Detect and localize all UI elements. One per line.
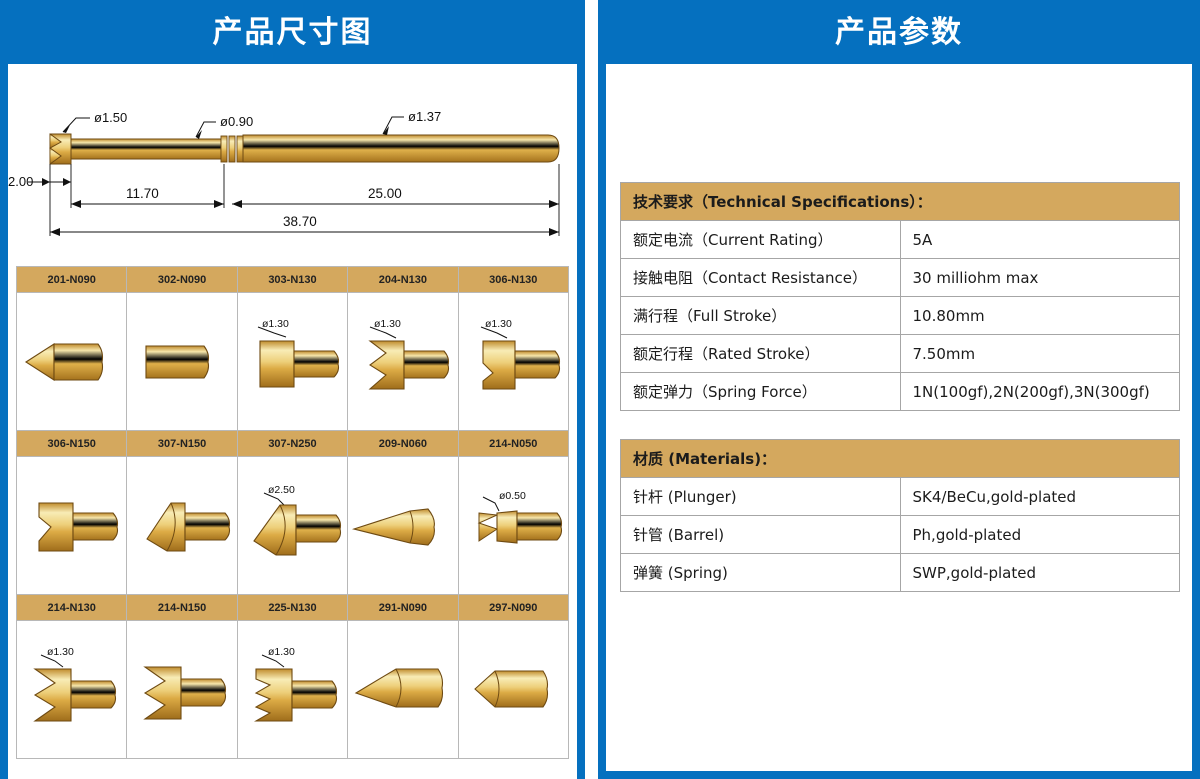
tip-model-label: 307-N150 bbox=[127, 431, 237, 457]
material-key: 针杆 (Plunger) bbox=[621, 478, 901, 516]
tip-model-label: 306-N150 bbox=[17, 431, 127, 457]
table-row: 针杆 (Plunger) SK4/BeCu,gold-plated bbox=[621, 478, 1180, 516]
tip-callout: ø1.30 bbox=[485, 318, 512, 330]
spec-value: 7.50mm bbox=[900, 335, 1180, 373]
table-row: 额定行程（Rated Stroke） 7.50mm bbox=[621, 335, 1180, 373]
tip-model-label: 225-N130 bbox=[237, 595, 347, 621]
tip-model-label: 302-N090 bbox=[127, 267, 237, 293]
dimension-label-11-70: 11.70 bbox=[126, 186, 159, 201]
material-value: SWP,gold-plated bbox=[900, 554, 1180, 592]
table-row: ø1.30 ø1.30 bbox=[17, 621, 569, 759]
tip-model-label: 303-N130 bbox=[237, 267, 347, 293]
tip-callout: ø2.50 bbox=[268, 484, 295, 496]
tech-spec-header: 技术要求（Technical Specifications）： bbox=[621, 183, 1180, 221]
table-row: ø1.30 ø1.30 bbox=[17, 293, 569, 431]
materials-header: 材质 (Materials)： bbox=[621, 440, 1180, 478]
tip-model-label: 306-N130 bbox=[458, 267, 568, 293]
table-row: 额定电流（Current Rating） 5A bbox=[621, 221, 1180, 259]
table-row: 214-N130 214-N150 225-N130 291-N090 297-… bbox=[17, 595, 569, 621]
page-title-dimensions: 产品尺寸图 bbox=[213, 7, 373, 51]
header-banner-dimensions: 产品尺寸图 bbox=[0, 0, 585, 58]
spec-key: 接触电阻（Contact Resistance） bbox=[621, 259, 901, 297]
tip-shape-297-N090 bbox=[458, 621, 568, 759]
tip-shape-214-N050: ø0.50 bbox=[458, 457, 568, 595]
material-value: Ph,gold-plated bbox=[900, 516, 1180, 554]
tip-model-label: 214-N130 bbox=[17, 595, 127, 621]
materials-table: 材质 (Materials)： 针杆 (Plunger) SK4/BeCu,go… bbox=[620, 439, 1180, 592]
spec-key: 满行程（Full Stroke） bbox=[621, 297, 901, 335]
diameter-label-1: ø1.50 bbox=[94, 110, 127, 125]
dimension-11-70: 11.70 bbox=[71, 186, 224, 208]
spec-value: 30 milliohm max bbox=[900, 259, 1180, 297]
tip-shape-306-N150 bbox=[17, 457, 127, 595]
material-key: 针管 (Barrel) bbox=[621, 516, 901, 554]
tip-shape-214-N150 bbox=[127, 621, 237, 759]
page-title-parameters: 产品参数 bbox=[835, 7, 963, 51]
tip-shape-303-N130: ø1.30 bbox=[237, 293, 347, 431]
dimension-label-2-00: 2.00 bbox=[8, 174, 33, 189]
tip-callout: ø1.30 bbox=[47, 646, 74, 658]
dimension-25-00: 25.00 bbox=[232, 186, 559, 208]
table-row: 弹簧 (Spring) SWP,gold-plated bbox=[621, 554, 1180, 592]
tip-callout: ø0.50 bbox=[499, 490, 526, 502]
dimension-2-00: 2.00 bbox=[8, 174, 71, 189]
tip-shape-204-N130: ø1.30 bbox=[348, 293, 458, 431]
tip-model-label: 214-N150 bbox=[127, 595, 237, 621]
table-row: 接触电阻（Contact Resistance） 30 milliohm max bbox=[621, 259, 1180, 297]
tip-shape-209-N060 bbox=[348, 457, 458, 595]
diameter-label-3: ø1.37 bbox=[408, 109, 441, 124]
table-row: 306-N150 307-N150 307-N250 209-N060 214-… bbox=[17, 431, 569, 457]
probe-dimension-drawing: ø1.50 ø0.90 ø1.37 2.00 bbox=[8, 86, 577, 256]
table-row: 额定弹力（Spring Force） 1N(100gf),2N(200gf),3… bbox=[621, 373, 1180, 411]
probe-barrel bbox=[243, 135, 559, 162]
dimension-label-25-00: 25.00 bbox=[368, 186, 402, 201]
tip-model-label: 307-N250 bbox=[237, 431, 347, 457]
tip-style-grid: 201-N090 302-N090 303-N130 204-N130 306-… bbox=[16, 266, 569, 759]
spec-key: 额定弹力（Spring Force） bbox=[621, 373, 901, 411]
tip-shape-307-N250: ø2.50 bbox=[237, 457, 347, 595]
tip-shape-306-N130: ø1.30 bbox=[458, 293, 568, 431]
table-row: ø2.50 bbox=[17, 457, 569, 595]
probe-crimp-rings bbox=[221, 136, 243, 162]
product-spec-sheet: 产品尺寸图 产品参数 bbox=[0, 0, 1200, 779]
tip-shape-225-N130: ø1.30 bbox=[237, 621, 347, 759]
table-row: 满行程（Full Stroke） 10.80mm bbox=[621, 297, 1180, 335]
parameters-panel: 技术要求（Technical Specifications）： 额定电流（Cur… bbox=[598, 56, 1200, 779]
material-key: 弹簧 (Spring) bbox=[621, 554, 901, 592]
tip-shape-307-N150 bbox=[127, 457, 237, 595]
material-value: SK4/BeCu,gold-plated bbox=[900, 478, 1180, 516]
tip-model-label: 204-N130 bbox=[348, 267, 458, 293]
spec-key: 额定电流（Current Rating） bbox=[621, 221, 901, 259]
tip-shape-291-N090 bbox=[348, 621, 458, 759]
diameter-label-2: ø0.90 bbox=[220, 114, 253, 129]
tip-shape-214-N130: ø1.30 bbox=[17, 621, 127, 759]
tip-model-label: 291-N090 bbox=[348, 595, 458, 621]
tip-model-label: 209-N060 bbox=[348, 431, 458, 457]
table-row: 201-N090 302-N090 303-N130 204-N130 306-… bbox=[17, 267, 569, 293]
probe-tip-head bbox=[50, 134, 71, 164]
spec-value: 1N(100gf),2N(200gf),3N(300gf) bbox=[900, 373, 1180, 411]
tip-callout: ø1.30 bbox=[374, 318, 401, 330]
table-row: 针管 (Barrel) Ph,gold-plated bbox=[621, 516, 1180, 554]
tip-callout: ø1.30 bbox=[262, 318, 289, 330]
tip-shape-302-N090 bbox=[127, 293, 237, 431]
header-banner-parameters: 产品参数 bbox=[598, 0, 1200, 58]
dimension-label-38-70: 38.70 bbox=[283, 214, 317, 229]
tip-model-label: 201-N090 bbox=[17, 267, 127, 293]
tip-model-label: 297-N090 bbox=[458, 595, 568, 621]
spec-key: 额定行程（Rated Stroke） bbox=[621, 335, 901, 373]
tip-callout: ø1.30 bbox=[268, 646, 295, 658]
probe-plunger-shaft bbox=[71, 139, 221, 159]
tip-shape-201-N090 bbox=[17, 293, 127, 431]
tip-model-label: 214-N050 bbox=[458, 431, 568, 457]
table-row: 技术要求（Technical Specifications）： bbox=[621, 183, 1180, 221]
spec-value: 5A bbox=[900, 221, 1180, 259]
spec-value: 10.80mm bbox=[900, 297, 1180, 335]
dimension-38-70: 38.70 bbox=[50, 214, 559, 236]
table-row: 材质 (Materials)： bbox=[621, 440, 1180, 478]
technical-specifications-table: 技术要求（Technical Specifications）： 额定电流（Cur… bbox=[620, 182, 1180, 411]
dimensions-panel: ø1.50 ø0.90 ø1.37 2.00 bbox=[0, 56, 585, 779]
